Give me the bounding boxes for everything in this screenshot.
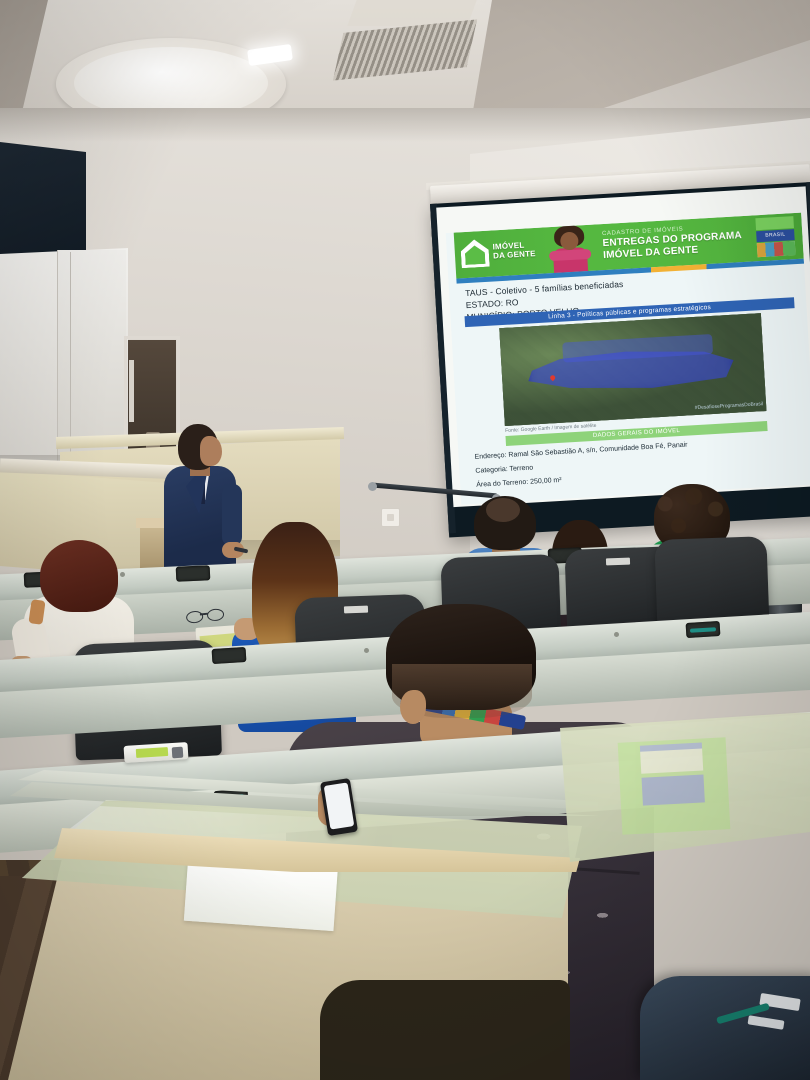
cable-slot xyxy=(212,647,247,664)
foreground-person-ear xyxy=(400,690,426,724)
presenter-face xyxy=(200,436,222,466)
satellite-map-image: #DesafioseProgramasDoBrasil xyxy=(499,313,766,426)
slide: IMÓVEL DA GENTE CADASTRO DE IMÓVEIS ENTR… xyxy=(446,213,810,505)
projection-screen: IMÓVEL DA GENTE CADASTRO DE IMÓVEIS ENTR… xyxy=(430,182,810,537)
gov-logo-green xyxy=(755,216,794,230)
gov-logo-block: BRASIL xyxy=(751,216,799,259)
attendee-auburn-hair xyxy=(40,540,118,612)
wall-outlet xyxy=(381,508,400,527)
chair-label xyxy=(606,558,630,566)
slide-categoria: Categoria: Terreno xyxy=(475,465,533,475)
logo-line-2: DA GENTE xyxy=(493,249,536,260)
map-watermark: #DesafioseProgramasDoBrasil xyxy=(695,401,764,411)
desk-screw xyxy=(120,572,125,577)
banner-photo xyxy=(545,223,594,274)
slide-reflection-blue xyxy=(642,774,705,805)
desk-screw xyxy=(364,648,369,653)
attendee-blue-shirt-scalp xyxy=(486,498,520,522)
remote-control-button[interactable] xyxy=(172,747,184,759)
screen-surface: IMÓVEL DA GENTE CADASTRO DE IMÓVEIS ENTR… xyxy=(436,186,810,507)
foreground-chair[interactable] xyxy=(640,976,810,1080)
slide-reflection xyxy=(618,737,731,835)
slide-logo-text: IMÓVEL DA GENTE xyxy=(492,240,536,260)
cable-slot xyxy=(176,565,211,582)
handrail-bracket-left xyxy=(368,482,377,491)
slide-estado: ESTADO: RO xyxy=(466,297,519,310)
foreground-desk-underside xyxy=(320,980,570,1080)
gov-logo-strip xyxy=(757,241,796,257)
chair-label xyxy=(344,606,368,614)
presenter-arm xyxy=(222,484,242,546)
door-bar xyxy=(129,360,134,422)
gov-badge-text: BRASIL xyxy=(756,229,795,242)
slide-reflection-white xyxy=(640,748,703,773)
slide-area: Área do Terreno: 250,00 m² xyxy=(476,477,562,489)
auditorium-presentation-photo: IMÓVEL DA GENTE CADASTRO DE IMÓVEIS ENTR… xyxy=(0,0,810,1080)
gov-logo-blue: BRASIL xyxy=(756,229,795,242)
desk-screw xyxy=(614,632,619,637)
slide-headline: TAUS - Coletivo - 5 famílias beneficiada… xyxy=(465,279,624,298)
banner-title-block: CADASTRO DE IMÓVEIS ENTREGAS DO PROGRAMA… xyxy=(602,221,764,261)
